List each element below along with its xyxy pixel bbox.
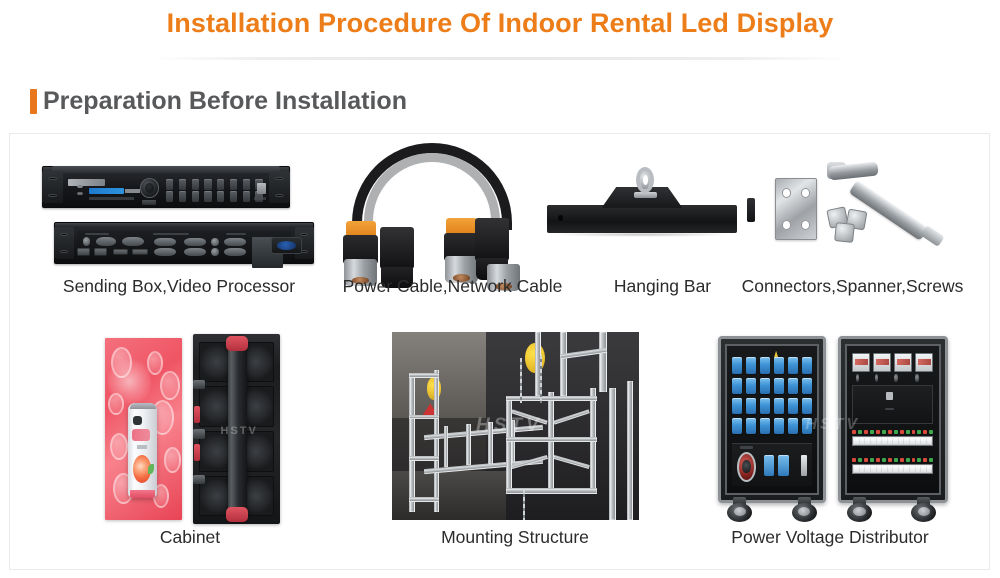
connector-block-icon: [747, 198, 755, 222]
beverage-can-graphic: [128, 403, 157, 498]
caption-power-voltage-distributor: Power Voltage Distributor: [670, 527, 990, 548]
truss-watermark: HSTV: [476, 415, 543, 437]
mounting-structure-image: HSTV: [392, 332, 639, 520]
caster-wheel-1: [727, 497, 752, 522]
preparation-row-2: HSTV Cabinet: [10, 324, 991, 570]
video-processor-front-image: [42, 166, 290, 208]
section-accent-bar: [30, 89, 37, 114]
breaker-row-bottom: [852, 464, 933, 474]
blue-socket-a: [764, 455, 774, 476]
cabinet-rear-panel: HSTV: [193, 334, 281, 524]
meter-knobs: [852, 374, 933, 383]
video-processor-rear-image: [54, 222, 314, 264]
breaker-leds-bottom: [852, 458, 933, 462]
page-root: Installation Procedure Of Indoor Rental …: [0, 0, 1000, 578]
caption-power-cable-network-cable: Power Cable,Network Cable: [325, 276, 580, 297]
connectors-spanner-screws-image: [747, 156, 947, 256]
caster-wheel-4: [911, 497, 936, 522]
power-cable-image: [337, 140, 527, 280]
item-power-voltage-distributor: HSTV Power Voltage Distributor: [670, 324, 990, 570]
caption-mounting-structure: Mounting Structure: [365, 527, 665, 548]
item-power-cable-network-cable: Power Cable,Network Cable: [325, 134, 580, 319]
hanging-bar-image: [547, 162, 737, 244]
breaker-leds-top: [852, 430, 933, 434]
caster-wheel-2: [792, 497, 817, 522]
item-connectors-spanner-screws: Connectors,Spanner,Screws: [725, 134, 980, 319]
cabinet-front-panel: [105, 338, 182, 520]
item-hanging-bar: Hanging Bar: [585, 134, 740, 319]
distributor-watermark: HSTV: [805, 416, 860, 434]
item-mounting-structure: HSTV Mounting Structure: [365, 324, 665, 570]
section-heading-label: Preparation Before Installation: [43, 87, 407, 116]
page-title: Installation Procedure Of Indoor Rental …: [0, 8, 1000, 39]
connector-plate: [775, 178, 817, 240]
breaker-row-top: [852, 436, 933, 446]
item-sending-box-video-processor: Sending Box,Video Processor: [34, 134, 324, 319]
caption-hanging-bar: Hanging Bar: [585, 276, 740, 297]
spanner-wrench: [827, 160, 943, 248]
socket-array: [732, 357, 811, 434]
caption-sending-box-video-processor: Sending Box,Video Processor: [34, 276, 324, 297]
power-distributor-image: HSTV: [718, 332, 948, 522]
blue-socket-b: [778, 455, 788, 476]
power-switch: [801, 455, 807, 476]
section-heading: Preparation Before Installation: [30, 87, 407, 116]
caption-cabinet: Cabinet: [20, 527, 360, 548]
cabinet-image: HSTV: [105, 334, 280, 524]
content-frame: Sending Box,Video Processor: [9, 133, 990, 570]
industrial-input-plug: [737, 452, 756, 482]
preparation-row-1: Sending Box,Video Processor: [10, 134, 991, 319]
control-module: [852, 385, 933, 423]
voltage-meters: [852, 353, 933, 372]
cabinet-watermark: HSTV: [221, 425, 258, 437]
caption-connectors-spanner-screws: Connectors,Spanner,Screws: [725, 276, 980, 297]
title-divider: [150, 57, 850, 60]
caster-wheel-3: [847, 497, 872, 522]
item-cabinet: HSTV Cabinet: [20, 324, 360, 570]
